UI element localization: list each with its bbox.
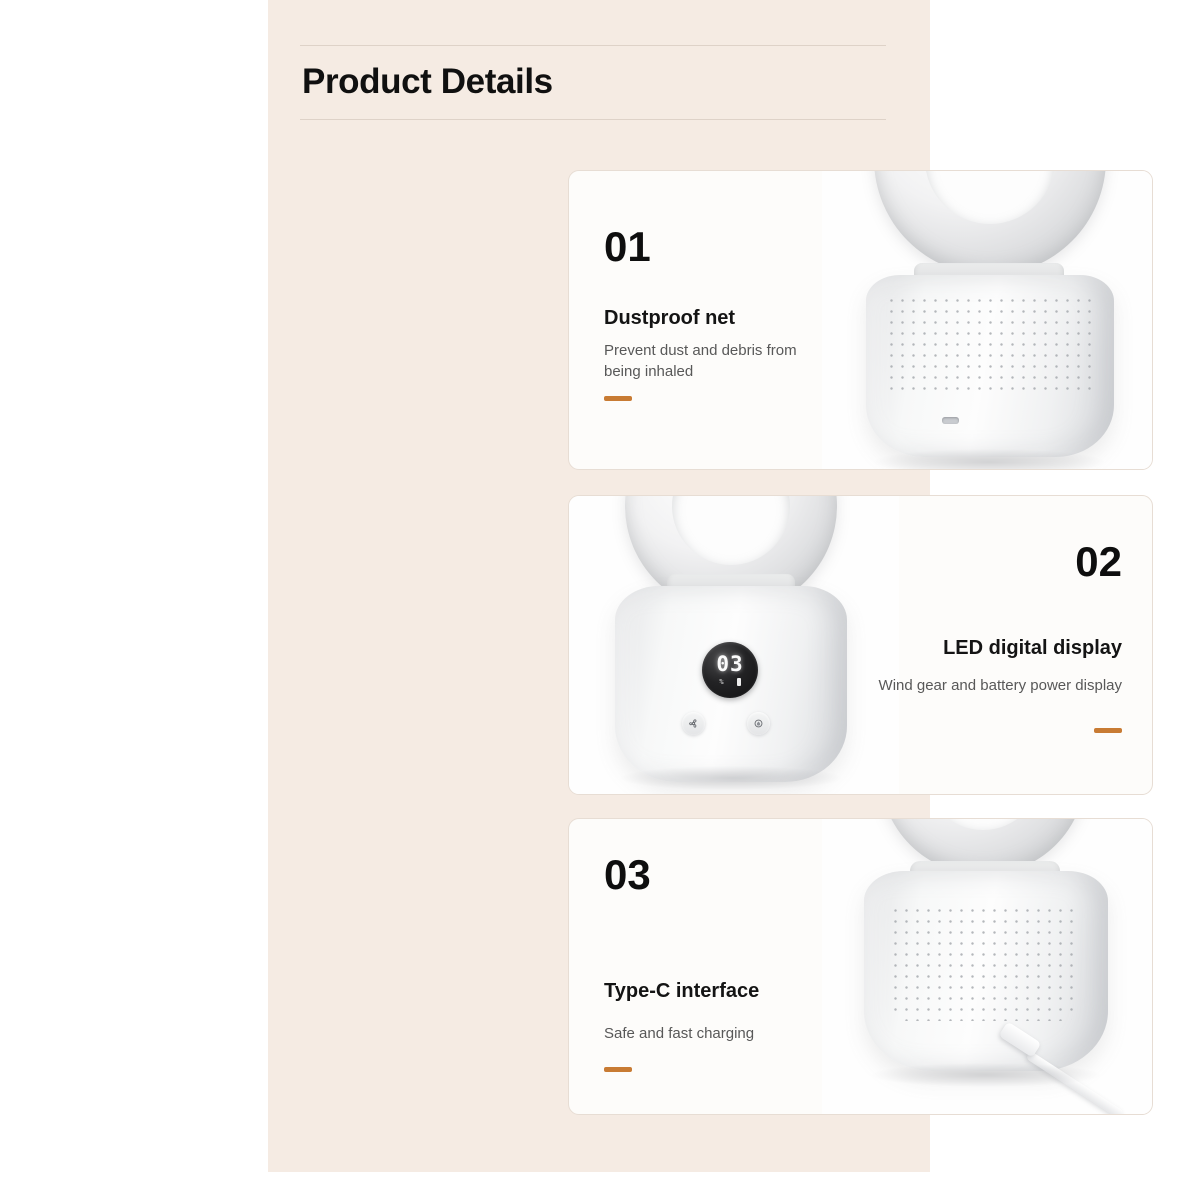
page-title: Product Details	[300, 46, 886, 119]
feature-card-03[interactable]: 03 Type-C interface Safe and fast chargi…	[568, 818, 1153, 1115]
feature-title-01: Dustproof net	[604, 306, 735, 330]
fan-button[interactable]	[682, 712, 705, 735]
accent-dash-03	[604, 1067, 632, 1072]
accent-dash-02	[1094, 728, 1122, 733]
content-panel: Product Details 01 Dustproof net Prevent…	[268, 0, 930, 1172]
feature-card-02[interactable]: 03 %	[568, 495, 1153, 795]
feature-description-01: Prevent dust and debris from being inhal…	[604, 341, 814, 382]
port-slot	[942, 417, 959, 424]
card-number-01: 01	[604, 226, 651, 268]
feature-title-02: LED digital display	[943, 636, 1122, 660]
product-image-led-display: 03 %	[569, 496, 899, 794]
dustproof-mesh-grille	[886, 295, 1094, 397]
feature-title-03: Type-C interface	[604, 979, 759, 1003]
accent-dash-01	[604, 396, 632, 401]
fan-ring-icon	[874, 171, 1106, 275]
fan-icon	[687, 717, 700, 730]
photo-background: 03 %	[569, 496, 899, 794]
ground-shadow	[872, 1063, 1100, 1087]
feature-description-03: Safe and fast charging	[604, 1024, 754, 1045]
product-image-dustproof-net	[822, 171, 1152, 469]
feature-card-01[interactable]: 01 Dustproof net Prevent dust and debris…	[568, 170, 1153, 470]
header-rule-bottom	[300, 119, 886, 120]
ground-shadow	[874, 449, 1104, 469]
ground-shadow	[621, 766, 841, 790]
led-percent-label: %	[719, 679, 723, 686]
led-value: 03	[716, 654, 743, 675]
led-digital-display: 03 %	[702, 642, 758, 698]
product-image-type-c-interface	[822, 819, 1152, 1114]
page-header: Product Details	[300, 45, 886, 120]
led-indicators: %	[719, 678, 740, 686]
feature-description-02: Wind gear and battery power display	[879, 676, 1122, 697]
power-button[interactable]	[747, 712, 770, 735]
photo-background	[822, 819, 1152, 1114]
battery-icon	[737, 678, 741, 686]
dustproof-mesh-grille	[890, 905, 1080, 1021]
photo-background	[822, 171, 1152, 469]
product-details-page: Product Details 01 Dustproof net Prevent…	[0, 0, 1200, 1200]
card-number-03: 03	[604, 854, 651, 896]
power-icon	[752, 717, 765, 730]
card-number-02: 02	[1075, 541, 1122, 583]
